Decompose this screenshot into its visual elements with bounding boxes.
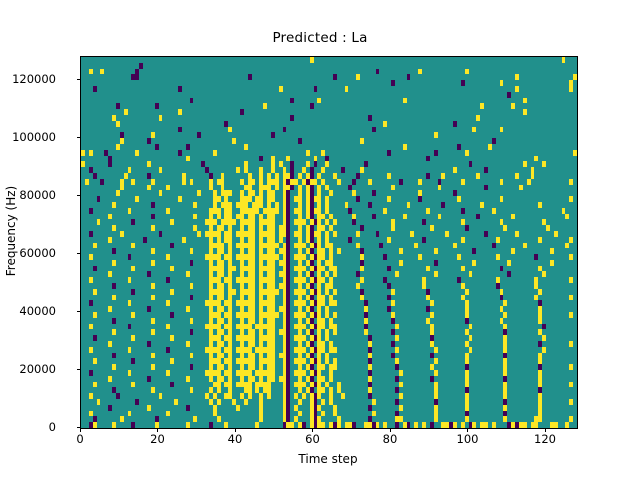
x-tick-label: 0 — [76, 432, 83, 446]
y-tick-label: 60000 — [19, 246, 56, 260]
y-axis-label: Frequency (Hz) — [4, 171, 18, 291]
y-tick-mark — [77, 311, 81, 312]
y-tick-mark — [77, 79, 81, 80]
x-tick-mark — [157, 428, 158, 432]
y-tick-label: 40000 — [19, 304, 56, 318]
x-tick-label: 20 — [150, 432, 165, 446]
y-tick-label: 80000 — [19, 188, 56, 202]
x-tick-mark — [467, 428, 468, 432]
x-tick-mark — [312, 428, 313, 432]
y-tick-label: 100000 — [12, 130, 56, 144]
y-tick-label: 120000 — [12, 72, 56, 86]
x-tick-label: 80 — [383, 432, 398, 446]
x-tick-mark — [235, 428, 236, 432]
x-tick-mark — [80, 428, 81, 432]
y-tick-mark — [77, 137, 81, 138]
y-tick-mark — [77, 195, 81, 196]
heatmap-axes — [80, 56, 578, 429]
x-tick-label: 60 — [305, 432, 320, 446]
heatmap-grid — [81, 57, 577, 428]
x-tick-label: 120 — [534, 432, 556, 446]
chart-title: Predicted : La — [0, 30, 640, 46]
matplotlib-figure: Predicted : La 0200004000060000800001000… — [0, 0, 640, 480]
y-tick-label: 0 — [49, 420, 56, 434]
y-tick-mark — [77, 253, 81, 254]
x-tick-label: 100 — [457, 432, 479, 446]
x-tick-label: 40 — [228, 432, 243, 446]
y-tick-mark — [77, 369, 81, 370]
x-tick-mark — [545, 428, 546, 432]
x-tick-mark — [390, 428, 391, 432]
y-tick-label: 20000 — [19, 362, 56, 376]
x-axis-label: Time step — [80, 452, 576, 466]
